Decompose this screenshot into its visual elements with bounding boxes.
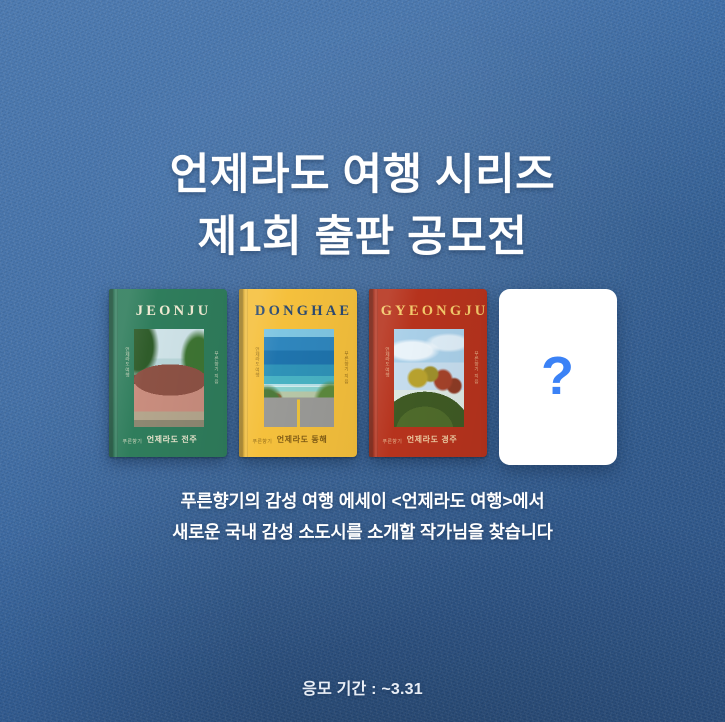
page-title-line-2: 제1회 출판 공모전 [0, 206, 725, 268]
book-cover-gyeongju[interactable]: GYEONGJU 언제라도 여행 푸른향기 지음 푸른향기 언제라도 경주 [369, 289, 487, 457]
submission-period: 응모 기간 : ~3.31 [0, 675, 725, 699]
book-cover-jeonju[interactable]: JEONJU 언제라도 여행 푸른향기 지음 푸른향기 언제라도 전주 [109, 289, 227, 457]
book-korean-title-gyeongju: 언제라도 경주 [378, 434, 487, 445]
hanok-photo-illustration [134, 329, 204, 427]
book-photo-gyeongju [394, 329, 464, 427]
book-sidecode-donghae: 언제라도 여행 [253, 347, 261, 377]
description-line-2: 새로운 국내 감성 소도시를 소개할 작가님을 찾습니다 [0, 517, 725, 548]
book-cover-donghae[interactable]: DONGHAE 언제라도 여행 푸른향기 지음 푸른향기 언제라도 동해 [239, 289, 357, 457]
mystery-book-card[interactable]: ? [499, 289, 617, 465]
book-author-mark-gyeongju: 푸른향기 지음 [474, 351, 480, 384]
book-korean-title-jeonju: 언제라도 전주 [118, 434, 227, 445]
page-title: 언제라도 여행 시리즈 제1회 출판 공모전 [0, 144, 725, 268]
book-photo-donghae [264, 329, 334, 427]
description-line-1: 푸른향기의 감성 여행 에세이 <언제라도 여행>에서 [0, 486, 725, 517]
book-sidecode-gyeongju: 언제라도 여행 [383, 347, 391, 377]
book-sidecode-jeonju: 언제라도 여행 [123, 347, 131, 377]
tomb-mound-photo-illustration [394, 329, 464, 427]
book-author-mark-jeonju: 푸른향기 지음 [214, 351, 220, 384]
book-title-gyeongju: GYEONGJU [378, 303, 487, 320]
book-author-mark-donghae: 푸른향기 지음 [344, 351, 350, 384]
book-korean-title-donghae: 언제라도 동해 [248, 434, 357, 445]
book-cover-row: JEONJU 언제라도 여행 푸른향기 지음 푸른향기 언제라도 전주 DONG… [0, 289, 725, 465]
description-text: 푸른향기의 감성 여행 에세이 <언제라도 여행>에서 새로운 국내 감성 소도… [0, 486, 725, 548]
book-spine-gyeongju [369, 289, 378, 457]
coastal-road-photo-illustration [264, 329, 334, 427]
book-photo-jeonju [134, 329, 204, 427]
page-title-line-1: 언제라도 여행 시리즈 [170, 151, 555, 199]
question-mark-icon: ? [541, 349, 574, 403]
book-spine-jeonju [109, 289, 118, 457]
book-title-jeonju: JEONJU [118, 303, 227, 320]
book-spine-donghae [239, 289, 248, 457]
book-title-donghae: DONGHAE [248, 303, 357, 320]
